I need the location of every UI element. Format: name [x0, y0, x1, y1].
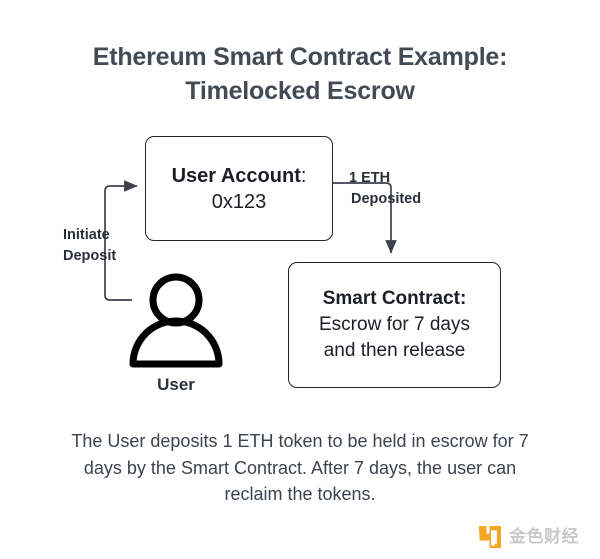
node-user-account-heading-colon: :	[301, 165, 307, 187]
title-line-1: Ethereum Smart Contract Example:	[93, 43, 508, 71]
edge-label-eth-deposited-line-1: 1 ETH	[349, 170, 390, 186]
edge-label-eth-deposited: 1 ETH Deposited	[349, 168, 421, 210]
node-smart-contract[interactable]: Smart Contract: Escrow for 7 days and th…	[288, 262, 501, 388]
edge-label-initiate-deposit: Initiate Deposit	[63, 225, 116, 267]
watermark: 金色财经	[478, 524, 579, 550]
user-person-icon	[126, 270, 226, 375]
jinse-finance-logo-icon	[478, 525, 502, 549]
title-line-2: Timelocked Escrow	[0, 74, 600, 108]
node-user-account-heading-text: User Account	[172, 165, 301, 187]
edge-label-initiate-deposit-line-1: Initiate	[63, 227, 110, 243]
node-smart-contract-heading: Smart Contract:	[323, 286, 467, 312]
diagram-canvas: Ethereum Smart Contract Example: Timeloc…	[0, 0, 600, 559]
actor-user-label: User	[126, 375, 226, 395]
node-user-account[interactable]: User Account: 0x123	[145, 136, 333, 241]
node-smart-contract-line-1: Escrow for 7 days	[319, 312, 470, 338]
node-user-account-heading: User Account:	[172, 163, 307, 189]
node-smart-contract-line-2: and then release	[324, 338, 466, 364]
diagram-caption: The User deposits 1 ETH token to be held…	[55, 428, 545, 508]
node-user-account-address: 0x123	[212, 189, 267, 215]
edge-label-eth-deposited-line-2: Deposited	[351, 189, 421, 210]
watermark-text: 金色财经	[509, 527, 579, 547]
page-title: Ethereum Smart Contract Example: Timeloc…	[0, 40, 600, 108]
actor-user[interactable]: User	[126, 270, 226, 405]
edge-label-initiate-deposit-line-2: Deposit	[63, 248, 116, 264]
